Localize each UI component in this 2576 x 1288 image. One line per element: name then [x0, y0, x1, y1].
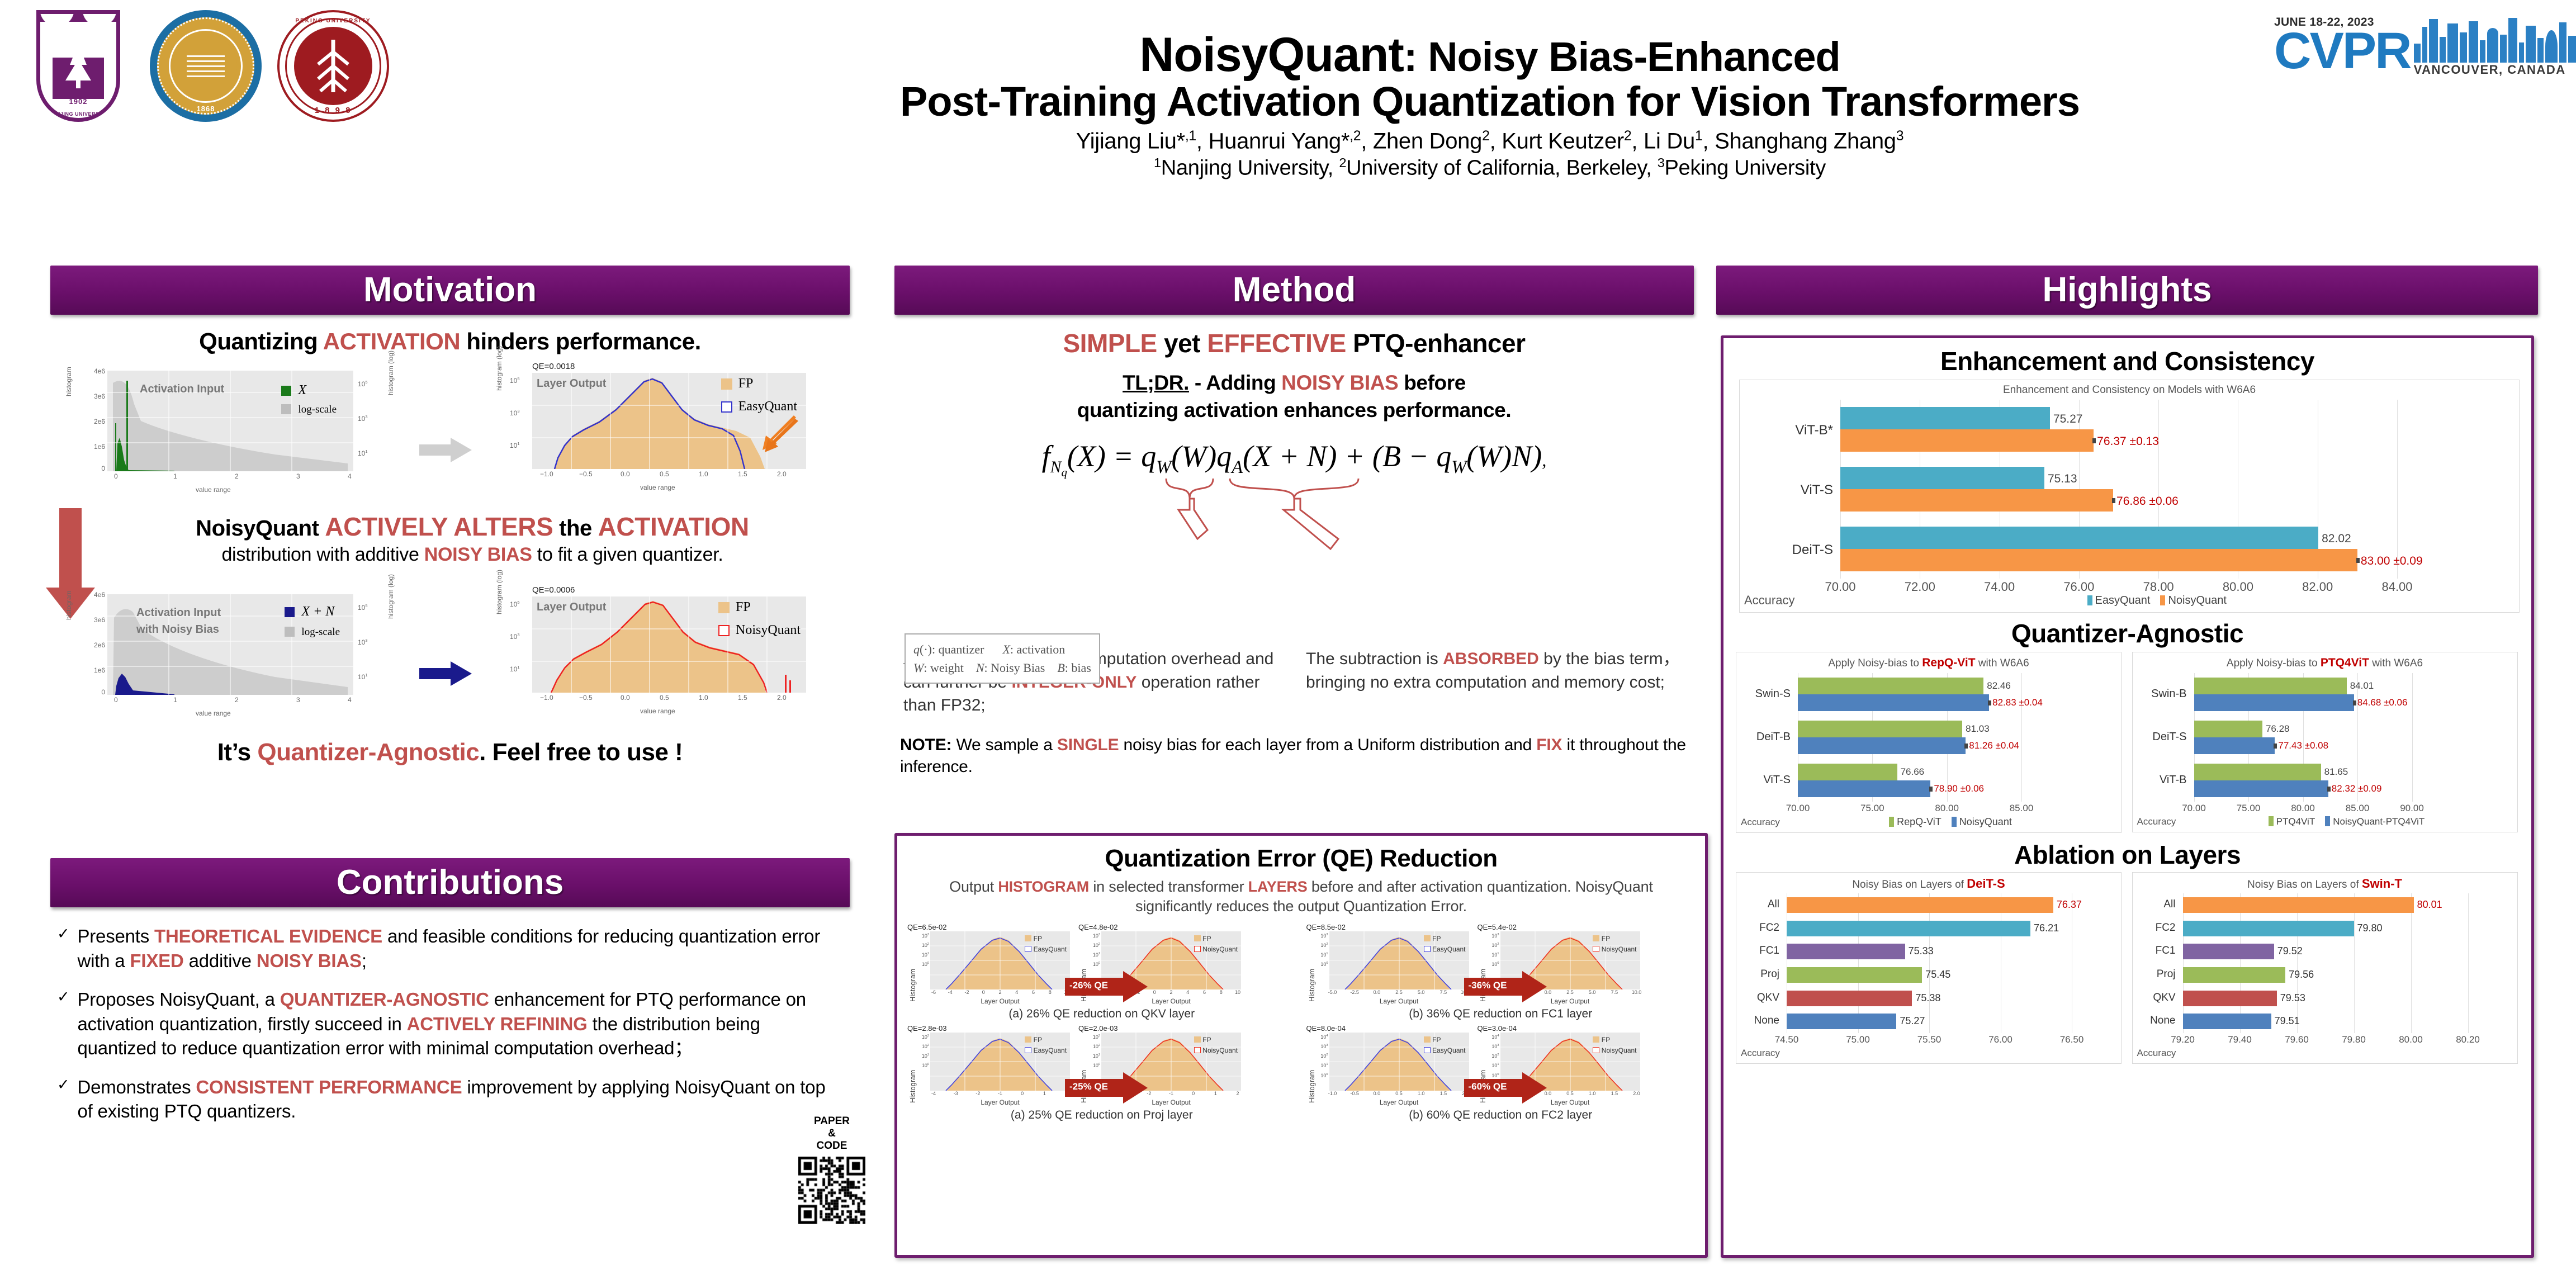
- bar: [2183, 991, 2277, 1006]
- motivation-chart-row-bottom: histogram 4e6 3e6 2e6 1e6 0: [50, 591, 850, 731]
- poster-title-line2: Post-Training Activation Quantization fo…: [839, 80, 2141, 124]
- pku-year: 1 8 9 8: [280, 106, 387, 115]
- error-bar: [1964, 744, 1968, 749]
- ptq4vit-chart: Apply Noisy-bias to PTQ4ViT with W6A6Swi…: [2132, 652, 2520, 833]
- chart-legend: EasyQuantNoisyQuant: [1794, 594, 2519, 607]
- x-tick-label: 75.50: [1917, 1034, 1942, 1045]
- legend-item: PTQ4ViT: [2269, 816, 2315, 827]
- qe-xtick: 2: [998, 989, 1001, 995]
- qe-legend: FP NoisyQuant: [1593, 935, 1636, 953]
- category-label: ViT-B*: [1795, 423, 1837, 438]
- category-label: DeiT-S: [2152, 731, 2190, 744]
- chart-legend: PTQ4ViTNoisyQuant-PTQ4ViT: [2176, 816, 2517, 827]
- bar-value-label: 79.51: [2275, 1015, 2300, 1027]
- category-label: ViT-S: [1801, 482, 1837, 498]
- poster-title-line1: NoisyQuant: Noisy Bias-Enhanced: [839, 31, 2141, 80]
- qe-xtick: 1: [1043, 1091, 1046, 1096]
- category-label: None: [2150, 1015, 2179, 1027]
- qe-chart-grid: QE=6.5e-02Histogram103102101100 FP EasyQ…: [897, 916, 1705, 1122]
- bar: [1787, 921, 2030, 936]
- qe-xtick: -2: [964, 989, 969, 995]
- x-tick-label: 80.20: [2456, 1034, 2480, 1045]
- x-tick-label: 76.00: [1988, 1034, 2012, 1045]
- qe-panel: QE=8.0e-04Histogram104103102101100 FP Ea…: [1306, 1024, 1696, 1122]
- qe-xtick: -6: [931, 989, 936, 995]
- bar-PTQ4ViT: [2194, 721, 2262, 737]
- qe-value-label: QE=8.5e-02: [1306, 923, 1474, 931]
- bar-value-label: 82.46: [1987, 680, 2011, 692]
- qe-xtick: 0.0: [1374, 989, 1381, 995]
- bar-value-label: 75.27: [2053, 413, 2083, 426]
- qe-panel: QE=2.8e-03Histogram103102101100 FP EasyQ…: [907, 1024, 1296, 1122]
- gray-transition-arrow-icon: [419, 437, 473, 463]
- qe-xtick: 7.5: [1611, 989, 1618, 995]
- method-tldr-line2: quantizing activation enhances performan…: [894, 397, 1694, 424]
- highlights-sec2-title: Quantizer-Agnostic: [1723, 618, 2531, 648]
- legend-item: NoisyQuant: [2160, 594, 2227, 607]
- category-label: None: [1754, 1015, 1783, 1027]
- qe-xtick: -1.0: [1328, 1091, 1337, 1096]
- x-tick-label: 80.00: [2291, 803, 2315, 814]
- mot-br-ylabel: histogram (log): [495, 570, 503, 614]
- category-label: All: [1768, 898, 1783, 911]
- title-block: NoisyQuant: Noisy Bias-Enhanced Post-Tra…: [839, 31, 2141, 180]
- qe-reduction-arrow: -26% QE: [1065, 971, 1149, 1002]
- cvpr-wordmark: CVPR: [2274, 29, 2411, 73]
- contributions-header-label: Contributions: [50, 858, 850, 907]
- mot-tr-qe: QE=0.0018: [532, 362, 575, 371]
- highlights-sec3-title: Ablation on Layers: [1723, 840, 2531, 870]
- nju-year: 1902: [40, 97, 116, 106]
- bar: [1787, 897, 2053, 913]
- qe-legend: FP EasyQuant: [1025, 1036, 1067, 1054]
- x-axis-title: Accuracy: [2137, 1048, 2176, 1058]
- category-label: Swin-S: [1755, 688, 1794, 700]
- bar-NoisyQuant: [1840, 489, 2113, 512]
- method-symbol-legend: q(·): quantizer X: activation W: weight …: [905, 633, 1100, 684]
- bar-NoisyQuant: [1798, 780, 1930, 797]
- qe-xtick: 5.0: [1418, 989, 1425, 995]
- error-bar: [2356, 558, 2360, 563]
- error-bar: [2353, 700, 2356, 705]
- bar-value-label: 79.56: [2289, 969, 2314, 981]
- qe-legend: FP EasyQuant: [1424, 1036, 1466, 1054]
- bar-value-label: 81.65: [2324, 766, 2348, 778]
- qe-xtick: 1.5: [1440, 1091, 1447, 1096]
- qe-legend: FP EasyQuant: [1424, 935, 1466, 953]
- activation-input-histogram: histogram 4e6 3e6 2e6 1e6 0: [67, 371, 402, 488]
- x-axis-title: Accuracy: [1741, 817, 1780, 828]
- qe-value-label: QE=8.0e-04: [1306, 1024, 1474, 1033]
- qe-xtick: 0.0: [1374, 1091, 1381, 1096]
- check-icon: ✓: [57, 987, 69, 1060]
- qe-xtick: -1: [1169, 1091, 1173, 1096]
- mot-tr-xlabel: value range: [640, 484, 675, 491]
- bar: [1787, 1014, 1896, 1029]
- x-tick-label: 80.00: [2223, 580, 2253, 594]
- qe-mini-chart: QE=8.5e-02Histogram103102101100 FP EasyQ…: [1306, 923, 1474, 1005]
- qr-label-amp: &: [787, 1128, 877, 1140]
- qe-delta-label: -26% QE: [1069, 980, 1108, 991]
- qe-xtick: 2: [1169, 989, 1172, 995]
- qe-caption: (a) 25% QE reduction on Proj layer: [907, 1109, 1296, 1122]
- qe-caption: (b) 36% QE reduction on FC1 layer: [1306, 1007, 1696, 1021]
- bar-NoisyQuant-PTQ4ViT: [2194, 780, 2328, 797]
- qe-xtick: 0: [982, 989, 985, 995]
- qe-panel: QE=8.5e-02Histogram103102101100 FP EasyQ…: [1306, 923, 1696, 1021]
- bar-EasyQuant: [1840, 467, 2044, 489]
- qe-description: Output HISTOGRAM in selected transformer…: [897, 873, 1705, 916]
- layer-output-noisyquant-histogram: histogram (log) 105 103 101 QE=0.0006: [498, 594, 844, 712]
- bar-value-label: 80.01: [2417, 899, 2442, 911]
- x-tick-label: 78.00: [2143, 580, 2174, 594]
- legend-item: RepQ-ViT: [1889, 816, 1942, 828]
- qe-ylabel: Histogram: [1306, 931, 1317, 1005]
- qe-panel: QE=6.5e-02Histogram103102101100 FP EasyQ…: [907, 923, 1296, 1021]
- blue-transition-arrow-icon: [419, 660, 473, 687]
- x-tick-label: 74.00: [1984, 580, 2015, 594]
- gridline: [2240, 893, 2241, 1033]
- qe-xtick: 8: [1049, 989, 1052, 995]
- qe-mini-chart: QE=6.5e-02Histogram103102101100 FP EasyQ…: [907, 923, 1075, 1005]
- contribution-item: ✓Presents THEORETICAL EVIDENCE and feasi…: [57, 924, 843, 973]
- qe-xtick: 1.5: [1611, 1091, 1618, 1096]
- qe-xtick: 2.5: [1566, 989, 1574, 995]
- category-label: Swin-B: [2151, 688, 2190, 700]
- qe-xtick: 1.0: [1589, 1091, 1596, 1096]
- ablation-swin-t-chart: Noisy Bias on Layers of Swin-TAll80.01FC…: [2132, 872, 2520, 1064]
- qe-ylabel: Histogram: [907, 931, 918, 1005]
- bar-value-label: 75.13: [2048, 472, 2077, 486]
- bar-value-label: 84.68 ±0.06: [2357, 697, 2408, 708]
- x-tick-label: 72.00: [1905, 580, 1935, 594]
- gridline: [2354, 893, 2355, 1033]
- mot-bl-xlabel: value range: [196, 709, 231, 717]
- bar-NoisyQuant-PTQ4ViT: [2194, 737, 2275, 754]
- x-tick-label: 75.00: [1846, 1034, 1870, 1045]
- error-bar: [1929, 787, 1933, 792]
- mot-tr-inner-title: Layer Output: [537, 377, 606, 390]
- pku-glyph-icon: [308, 35, 358, 97]
- qe-reduction-arrow: -60% QE: [1464, 1072, 1548, 1104]
- qe-reduction-panel: Quantization Error (QE) Reduction Output…: [894, 833, 1708, 1258]
- gridline: [2072, 893, 2072, 1033]
- bar-value-label: 75.38: [1915, 992, 1940, 1004]
- bar-value-label: 78.90 ±0.06: [1934, 783, 1984, 794]
- x-tick-label: 85.00: [2346, 803, 2370, 814]
- bar: [1787, 991, 1912, 1006]
- bar-NoisyQuant: [1840, 429, 2094, 452]
- method-note-block: NOTE: We sample a SINGLE noisy bias for …: [894, 734, 1694, 778]
- qe-value-label: QE=2.8e-03: [907, 1024, 1075, 1033]
- bar: [2183, 921, 2354, 936]
- author-list: Yijiang Liu*,1, Huanrui Yang*,2, Zhen Do…: [839, 129, 2141, 154]
- motivation-chart-row-top: histogram 4e6 3e6 2e6 1e6 0: [50, 367, 850, 507]
- qe-yticks: 103102101100: [918, 931, 930, 989]
- x-tick-label: 70.00: [1786, 803, 1810, 814]
- mot-tl-legend: X log-scale: [281, 383, 337, 416]
- highlights-panel: Enhancement and Consistency Enhancement …: [1721, 335, 2534, 1258]
- gridline: [2183, 893, 2184, 1033]
- qe-xtick: 5.0: [1589, 989, 1596, 995]
- bar-value-label: 79.53: [2280, 992, 2305, 1004]
- pku-name: PEKING UNIVERSITY: [280, 18, 387, 24]
- gridline: [1858, 893, 1859, 1033]
- mot-bl-right-axis: histogram (log): [387, 574, 395, 619]
- x-axis-title: Accuracy: [1741, 1048, 1780, 1058]
- nanjing-university-logo: 1902 NANJING UNIVERSITY: [22, 10, 134, 127]
- title-line1-rest: : Noisy Bias-Enhanced: [1404, 34, 1840, 80]
- mot-br-qe: QE=0.0006: [532, 585, 575, 595]
- bar-NoisyQuant: [1798, 737, 1966, 754]
- contributions-list: ✓Presents THEORETICAL EVIDENCE and feasi…: [50, 924, 850, 1124]
- qr-label-code: CODE: [787, 1140, 877, 1152]
- category-label: ViT-B: [2160, 774, 2191, 787]
- bar-value-label: 77.43 ±0.08: [2278, 740, 2328, 751]
- x-tick-label: 85.00: [2010, 803, 2034, 814]
- bar-EasyQuant: [1840, 527, 2318, 549]
- qe-delta-label: -60% QE: [1469, 1081, 1507, 1092]
- error-bar: [2112, 498, 2115, 503]
- contributions-header: Contributions: [50, 858, 850, 907]
- bar: [2183, 897, 2414, 913]
- bar-value-label: 76.66: [1901, 766, 1925, 778]
- qe-xtick: -3: [954, 1091, 958, 1096]
- qe-xlabel: Layer Output: [930, 1098, 1070, 1106]
- qe-legend: FP NoisyQuant: [1593, 1036, 1636, 1054]
- bar-value-label: 81.26 ±0.04: [1969, 740, 2019, 751]
- qe-xtick: -1: [998, 1091, 1002, 1096]
- qe-delta-label: -25% QE: [1069, 1081, 1108, 1092]
- bar-RepQ-ViT: [1798, 764, 1897, 780]
- check-icon: ✓: [57, 1075, 69, 1124]
- highlights-header-label: Highlights: [1716, 266, 2538, 315]
- method-note-right: The subtraction is ABSORBED by the bias …: [1306, 647, 1685, 717]
- mot-tl-right-axis: histogram (log): [387, 351, 395, 395]
- qe-xtick: -4: [931, 1091, 936, 1096]
- bar-value-label: 82.83 ±0.04: [1992, 697, 2043, 708]
- ablation-deit-s-chart: Noisy Bias on Layers of DeiT-SAll76.37FC…: [1736, 872, 2123, 1064]
- poster-root: 1902 NANJING UNIVERSITY 1868: [0, 0, 2576, 1288]
- vancouver-skyline-icon: [2414, 16, 2576, 63]
- qr-label-paper: PAPER: [787, 1115, 877, 1128]
- gridline: [2411, 893, 2412, 1033]
- qe-xtick: -4: [948, 989, 953, 995]
- qe-xtick: 4: [1186, 989, 1189, 995]
- cvpr-logo: JUNE 18-22, 2023 CVPR VANCOUVER, CANADA: [2274, 16, 2554, 77]
- qe-xtick: 1: [1214, 1091, 1217, 1096]
- category-label: QKV: [2153, 992, 2179, 1004]
- motivation-statement-3: distribution with additive NOISY BIAS to…: [50, 544, 850, 566]
- motivation-statement-1: Quantizing ACTIVATION hinders performanc…: [50, 328, 850, 355]
- highlights-section: Highlights: [1716, 266, 2538, 315]
- x-tick-label: 80.00: [1935, 803, 1959, 814]
- x-tick-label: 79.20: [2171, 1034, 2195, 1045]
- x-tick-label: 79.40: [2228, 1034, 2252, 1045]
- x-tick-label: 76.00: [2063, 580, 2094, 594]
- qe-caption: (b) 60% QE reduction on FC2 layer: [1306, 1109, 1696, 1122]
- paper-and-code-qr[interactable]: PAPER & CODE: [787, 1115, 877, 1224]
- qe-yticks: 104103102101100: [1317, 1033, 1329, 1091]
- bar-value-label: 76.37 ±0.13: [2097, 435, 2159, 448]
- x-tick-label: 76.50: [2060, 1034, 2084, 1045]
- mot-bl-inner-title: Activation Input with Noisy Bias: [136, 604, 221, 638]
- gridline: [2397, 400, 2398, 579]
- x-tick-label: 75.00: [1860, 803, 1884, 814]
- x-axis-title: Accuracy: [2137, 816, 2176, 827]
- gridline: [2297, 893, 2298, 1033]
- bar: [1787, 967, 1922, 983]
- method-tagline: SIMPLE yet EFFECTIVE PTQ-enhancer: [894, 328, 1694, 358]
- bar-value-label: 76.37: [2057, 899, 2082, 911]
- qe-legend: FP EasyQuant: [1025, 935, 1067, 953]
- bar: [2183, 967, 2286, 983]
- affiliation-list: 1Nanjing University, 2University of Cali…: [839, 155, 2141, 181]
- mot-tl-ylabel: histogram: [65, 367, 73, 396]
- contribution-text: Demonstrates CONSISTENT PERFORMANCE impr…: [77, 1075, 843, 1124]
- category-label: Proj: [2157, 968, 2180, 981]
- gridline: [2021, 673, 2022, 802]
- highlights-sec1-title: Enhancement and Consistency: [1723, 346, 2531, 376]
- bar-NoisyQuant-PTQ4ViT: [2194, 694, 2354, 711]
- qe-xlabel: Layer Output: [930, 997, 1070, 1005]
- orange-pointer-arrow-icon: [759, 415, 801, 456]
- category-label: FC1: [1759, 945, 1783, 957]
- bar-RepQ-ViT: [1798, 721, 1962, 737]
- bar: [2183, 944, 2274, 959]
- legend-item: NoisyQuant: [1952, 816, 2012, 828]
- qe-value-label: QE=5.4e-02: [1478, 923, 1645, 931]
- qe-xtick: 6: [1203, 989, 1206, 995]
- category-label: DeiT-S: [1792, 542, 1837, 558]
- ucb-year: 1868: [150, 105, 262, 113]
- x-tick-label: 79.60: [2285, 1034, 2309, 1045]
- qe-xtick: 1.0: [1418, 1091, 1425, 1096]
- contribution-text: Proposes NoisyQuant, a QUANTIZER-AGNOSTI…: [77, 987, 843, 1060]
- motivation-statement-4: It’s Quantizer-Agnostic. Feel free to us…: [50, 738, 850, 766]
- method-section: Method SIMPLE yet EFFECTIVE PTQ-enhancer…: [894, 266, 1694, 778]
- peking-university-logo: PEKING UNIVERSITY 1 8 9 8: [277, 10, 389, 127]
- bar-NoisyQuant: [1798, 694, 1989, 711]
- gridline: [1929, 893, 1930, 1033]
- category-label: Proj: [1760, 968, 1783, 981]
- qr-code-image[interactable]: [798, 1157, 865, 1224]
- qe-mini-chart: QE=8.0e-04Histogram104103102101100 FP Ea…: [1306, 1024, 1474, 1106]
- contribution-item: ✓Proposes NoisyQuant, a QUANTIZER-AGNOST…: [57, 987, 843, 1060]
- bar-PTQ4ViT: [2194, 764, 2321, 780]
- mot-bl-legend: X + N log-scale: [285, 604, 340, 638]
- chart-title: Apply Noisy-bias to RepQ-ViT with W6A6: [1736, 652, 2121, 670]
- contribution-item: ✓Demonstrates CONSISTENT PERFORMANCE imp…: [57, 1075, 843, 1124]
- qe-xtick: 0.5: [1395, 1091, 1403, 1096]
- motivation-middle-block: NoisyQuant ACTIVELY ALTERS the ACTIVATIO…: [50, 512, 850, 595]
- mot-tl-xlabel: value range: [196, 486, 231, 494]
- qe-xtick: 4: [1015, 989, 1018, 995]
- qe-xtick: -5.0: [1328, 989, 1337, 995]
- category-label: FC2: [1759, 922, 1783, 934]
- activation-input-noisy-histogram: histogram 4e6 3e6 2e6 1e6 0: [67, 594, 402, 712]
- chart-title: Enhancement and Consistency on Models wi…: [1740, 380, 2519, 396]
- chart-legend: RepQ-ViTNoisyQuant: [1780, 816, 2121, 828]
- error-bar: [2274, 744, 2277, 749]
- mot-br-xlabel: value range: [640, 707, 675, 715]
- category-label: ViT-S: [1763, 774, 1794, 787]
- bar-value-label: 75.45: [1925, 969, 1950, 981]
- qe-value-label: QE=2.0e-03: [1078, 1024, 1246, 1033]
- mot-bl-ylabel: histogram: [65, 590, 73, 620]
- method-tldr: TL;DR. - Adding NOISY BIAS before quanti…: [894, 370, 1694, 424]
- enhancement-consistency-chart: Enhancement and Consistency on Models wi…: [1739, 380, 2516, 613]
- qe-mini-chart: QE=2.8e-03Histogram103102101100 FP EasyQ…: [907, 1024, 1075, 1106]
- bar-value-label: 83.00 ±0.09: [2361, 555, 2423, 568]
- error-bar: [2092, 438, 2096, 443]
- contributions-section: Contributions ✓Presents THEORETICAL EVID…: [50, 858, 850, 1138]
- bar-value-label: 75.27: [1900, 1015, 1925, 1027]
- qe-yticks: 103102101100: [918, 1033, 930, 1091]
- x-tick-label: 70.00: [2182, 803, 2206, 814]
- x-tick-label: 80.00: [2399, 1034, 2423, 1045]
- bar: [2183, 1014, 2271, 1029]
- qe-xtick: 6: [1032, 989, 1035, 995]
- mot-tl-inner-title: Activation Input: [140, 383, 224, 396]
- category-label: DeiT-B: [1756, 731, 1794, 744]
- x-tick-label: 74.50: [1775, 1034, 1799, 1045]
- motivation-statement-2: NoisyQuant ACTIVELY ALTERS the ACTIVATIO…: [50, 512, 850, 542]
- category-label: FC1: [2156, 945, 2180, 957]
- motivation-header: Motivation: [50, 266, 850, 315]
- cvpr-city: VANCOUVER, CANADA: [2414, 63, 2576, 77]
- bar-value-label: 82.02: [2322, 532, 2351, 546]
- nju-name: NANJING UNIVERSITY: [40, 111, 116, 117]
- mot-tr-legend: FP EasyQuant: [721, 376, 797, 414]
- bar-EasyQuant: [1840, 407, 2050, 429]
- logo-row: 1902 NANJING UNIVERSITY 1868: [22, 10, 389, 127]
- bar: [1787, 944, 1905, 959]
- qe-xtick: 2: [1236, 1091, 1239, 1096]
- bar-value-label: 84.01: [2350, 680, 2374, 692]
- x-axis-title: Accuracy: [1744, 593, 1794, 608]
- qe-xtick: 2.5: [1395, 989, 1403, 995]
- qe-xtick: 8: [1220, 989, 1223, 995]
- qe-title: Quantization Error (QE) Reduction: [897, 845, 1705, 873]
- qe-xlabel: Layer Output: [1329, 1098, 1469, 1106]
- layer-output-easyquant-histogram: histogram (log) 105 103 101 QE=0.0018: [498, 371, 844, 488]
- contribution-text: Presents THEORETICAL EVIDENCE and feasib…: [77, 924, 843, 973]
- qe-ylabel: Histogram: [907, 1033, 918, 1106]
- qe-xtick: 0: [1192, 1091, 1195, 1096]
- category-label: FC2: [2156, 922, 2180, 934]
- qe-reduction-arrow: -36% QE: [1464, 971, 1548, 1002]
- qe-legend: FP NoisyQuant: [1194, 935, 1238, 953]
- chart-title: Noisy Bias on Layers of DeiT-S: [1736, 873, 2121, 891]
- mot-br-legend: FP NoisyQuant: [718, 600, 801, 638]
- mot-l1a: Quantizing: [199, 328, 323, 354]
- qe-value-label: QE=6.5e-02: [907, 923, 1075, 931]
- chart-title: Apply Noisy-bias to PTQ4ViT with W6A6: [2133, 652, 2517, 670]
- bar-value-label: 79.80: [2357, 922, 2383, 934]
- qe-xtick: -2.5: [1350, 989, 1359, 995]
- bar-value-label: 82.32 ±0.09: [2332, 783, 2382, 794]
- motivation-header-label: Motivation: [50, 266, 850, 315]
- legend-item: EasyQuant: [2087, 594, 2151, 607]
- method-header-label: Method: [894, 266, 1694, 315]
- gridline: [2468, 893, 2469, 1033]
- qe-xtick: 0.5: [1566, 1091, 1574, 1096]
- gridline: [2001, 893, 2001, 1033]
- bar-value-label: 81.03: [1966, 723, 1990, 735]
- qe-xtick: -2: [976, 1091, 980, 1096]
- qe-xlabel: Layer Output: [1329, 997, 1469, 1005]
